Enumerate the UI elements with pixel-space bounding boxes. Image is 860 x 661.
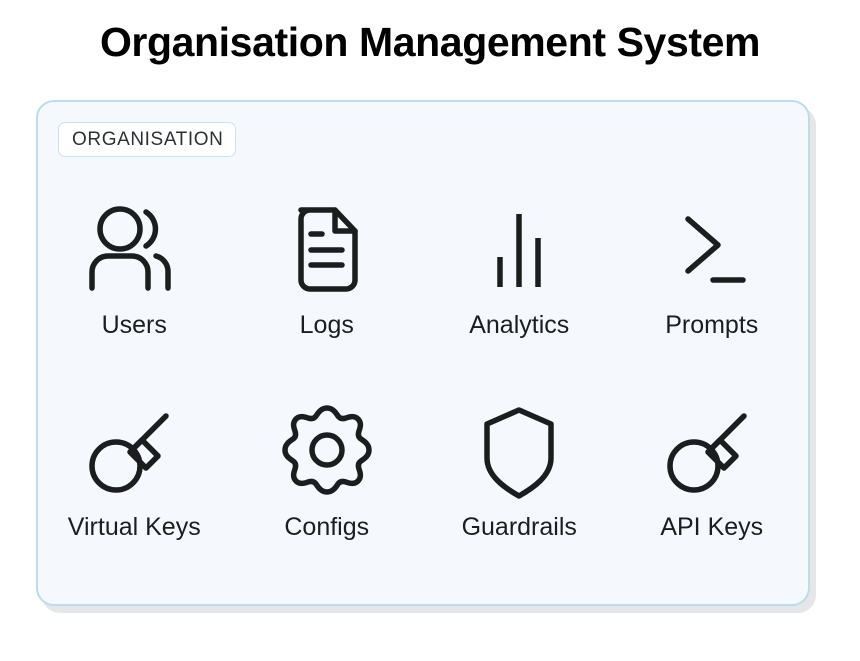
tile-analytics[interactable]: Analytics [423,194,616,374]
organisation-card: ORGANISATION Users [36,100,810,606]
tile-label: API Keys [660,514,763,542]
gear-icon [271,396,383,508]
shield-icon [463,396,575,508]
tile-grid: Users Logs Ana [38,194,808,576]
tile-configs[interactable]: Configs [231,396,424,576]
tile-label: Logs [300,312,354,340]
users-icon [78,194,190,306]
page-title: Organisation Management System [0,18,860,67]
status-badge: ORGANISATION [58,122,236,157]
tile-prompts[interactable]: Prompts [616,194,809,374]
tile-label: Users [102,312,167,340]
tile-label: Analytics [469,312,569,340]
tile-virtual-keys[interactable]: Virtual Keys [38,396,231,576]
key-icon [78,396,190,508]
tile-logs[interactable]: Logs [231,194,424,374]
tile-guardrails[interactable]: Guardrails [423,396,616,576]
tile-label: Guardrails [462,514,577,542]
tile-label: Prompts [665,312,758,340]
bar-chart-icon [463,194,575,306]
tile-api-keys[interactable]: API Keys [616,396,809,576]
tile-label: Configs [284,514,369,542]
document-lines-icon [271,194,383,306]
key-icon [656,396,768,508]
tile-label: Virtual Keys [68,514,201,542]
tile-users[interactable]: Users [38,194,231,374]
terminal-prompt-icon [656,194,768,306]
